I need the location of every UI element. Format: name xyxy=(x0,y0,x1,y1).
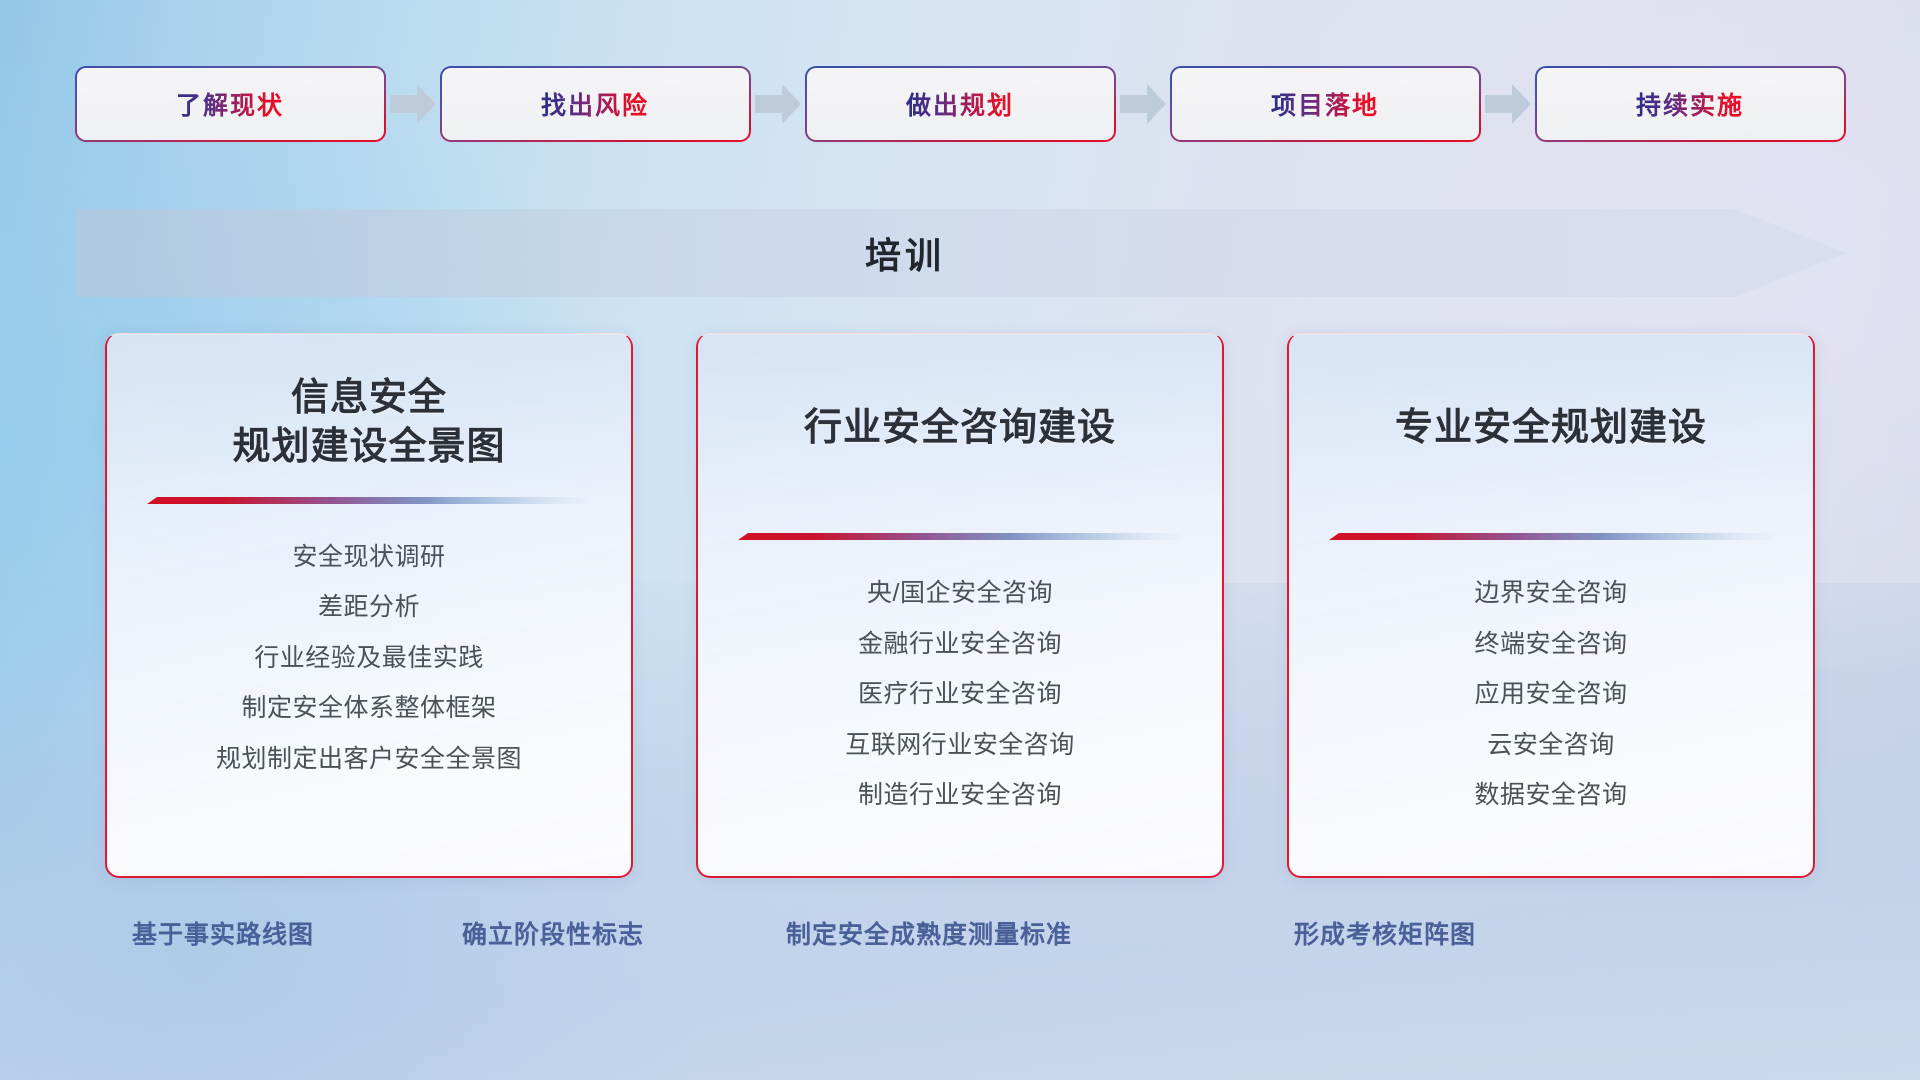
stage-label-2: 找出风险 xyxy=(541,86,649,122)
stage-box-5[interactable]: 持续实施 xyxy=(1537,68,1844,140)
stage-label-3: 做出规划 xyxy=(906,86,1014,122)
card-1-list-item-2: 差距分析 xyxy=(318,587,420,628)
caption-row: 基于事实路线图 确立阶段性标志 制定安全成熟度测量标准 形成考核矩阵图 xyxy=(0,915,1920,965)
card-3-list: 边界安全咨询 终端安全咨询 应用安全咨询 云安全咨询 数据安全咨询 xyxy=(1474,573,1627,816)
card-2-list-item-1: 央/国企安全咨询 xyxy=(867,573,1053,614)
stage-label-5: 持续实施 xyxy=(1636,86,1744,122)
card-1-title-line-1: 信息安全 xyxy=(232,374,505,423)
caption-3: 制定安全成熟度测量标准 xyxy=(786,915,1072,951)
card-1-list: 安全现状调研 差距分析 行业经验及最佳实践 制定安全体系整体框架 规划制定出客户… xyxy=(216,537,522,780)
card-1-list-item-1: 安全现状调研 xyxy=(292,537,445,578)
stage-arrow-1 xyxy=(384,84,442,124)
card-2-list: 央/国企安全咨询 金融行业安全咨询 医疗行业安全咨询 互联网行业安全咨询 制造行… xyxy=(845,573,1075,816)
stage-arrow-4 xyxy=(1479,84,1537,124)
card-3-title-line-1: 专业安全规划建设 xyxy=(1395,404,1707,453)
caption-4: 形成考核矩阵图 xyxy=(1294,915,1476,951)
card-2-title: 行业安全咨询建设 xyxy=(804,404,1116,453)
stage-box-2[interactable]: 找出风险 xyxy=(442,68,749,140)
card-group: 信息安全 规划建设全景图 xyxy=(0,333,1920,878)
card-3-list-item-3: 应用安全咨询 xyxy=(1474,674,1627,715)
caption-2: 确立阶段性标志 xyxy=(462,915,644,951)
card-1[interactable]: 信息安全 规划建设全景图 xyxy=(105,333,633,878)
card-2[interactable]: 行业安全咨询建设 xyxy=(696,333,1224,878)
card-2-divider xyxy=(738,531,1182,543)
card-2-list-item-5: 制造行业安全咨询 xyxy=(858,775,1062,816)
training-banner-label: 培训 xyxy=(76,209,1734,297)
card-1-list-item-5: 规划制定出客户安全全景图 xyxy=(216,739,522,780)
stage-box-3[interactable]: 做出规划 xyxy=(807,68,1114,140)
card-3-list-item-5: 数据安全咨询 xyxy=(1474,775,1627,816)
process-stage-row: 了解现状 找出风险 做出规划 项目落地 持续实施 xyxy=(0,68,1920,140)
stage-label-1: 了解现状 xyxy=(176,86,284,122)
stage-label-4: 项目落地 xyxy=(1271,86,1379,122)
card-3-divider xyxy=(1329,531,1773,543)
stage-arrow-3 xyxy=(1114,84,1172,124)
caption-1: 基于事实路线图 xyxy=(132,915,314,951)
card-1-title-line-2: 规划建设全景图 xyxy=(232,423,505,472)
card-3-list-item-4: 云安全咨询 xyxy=(1487,725,1615,766)
card-1-list-item-3: 行业经验及最佳实践 xyxy=(254,638,484,679)
card-2-list-item-3: 医疗行业安全咨询 xyxy=(858,674,1062,715)
card-2-list-item-4: 互联网行业安全咨询 xyxy=(845,725,1075,766)
card-3-title: 专业安全规划建设 xyxy=(1395,404,1707,453)
training-banner: 培训 xyxy=(76,209,1846,297)
card-2-title-line-1: 行业安全咨询建设 xyxy=(804,404,1116,453)
card-3[interactable]: 专业安全规划建设 xyxy=(1287,333,1815,878)
card-1-divider xyxy=(147,495,591,507)
stage-box-1[interactable]: 了解现状 xyxy=(77,68,384,140)
card-3-list-item-2: 终端安全咨询 xyxy=(1474,624,1627,665)
card-1-title: 信息安全 规划建设全景图 xyxy=(232,374,505,473)
stage-arrow-2 xyxy=(749,84,807,124)
card-2-list-item-2: 金融行业安全咨询 xyxy=(858,624,1062,665)
stage-box-4[interactable]: 项目落地 xyxy=(1172,68,1479,140)
card-1-list-item-4: 制定安全体系整体框架 xyxy=(241,688,496,729)
card-3-list-item-1: 边界安全咨询 xyxy=(1474,573,1627,614)
